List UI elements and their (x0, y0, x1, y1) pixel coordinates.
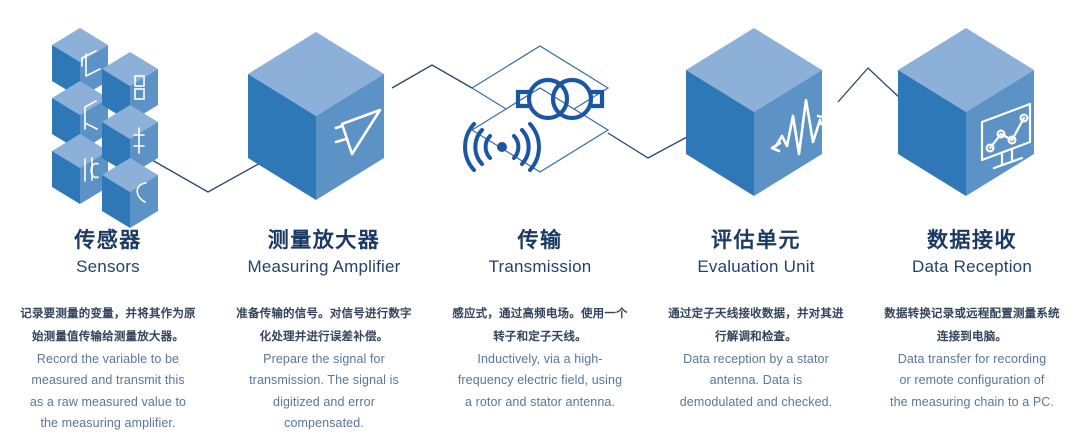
stage-column-evaluation-unit: 评估单元 Evaluation Unit 通过定子天线接收数据，并对其进 行解调… (648, 228, 864, 413)
desc-en-line: Inductively, via a high- (442, 349, 638, 371)
stage-title-cn-measuring-amplifier: 测量放大器 (226, 228, 422, 254)
desc-en-line: the measuring amplifier. (10, 413, 206, 435)
stage-title-en-transmission: Transmission (442, 256, 638, 278)
desc-cn-line: 始测量值传输给测量放大器。 (10, 327, 206, 348)
desc-en-line: or remote configuration of (874, 370, 1070, 392)
desc-en-line: digitized and error (226, 392, 422, 414)
connector-amplifier-to-transmission (392, 65, 472, 88)
stage-column-data-reception: 数据接收 Data Reception 数据转换记录或远程配置测量系统 连接到电… (864, 228, 1080, 413)
desc-en-line: Data reception by a stator (658, 349, 854, 371)
desc-en-line: antenna. Data is (658, 370, 854, 392)
stage-title-cn-data-reception: 数据接收 (874, 228, 1070, 254)
desc-cn-line: 数据转换记录或远程配置测量系统 (874, 304, 1070, 325)
desc-cn-line: 通过定子天线接收数据，并对其进 (658, 304, 854, 325)
amplifier-cube-icon (248, 32, 384, 200)
stage-description-measuring-amplifier: 准备传输的信号。对信号进行数字 化处理并进行误差补偿。 Prepare the … (226, 304, 422, 435)
transmission-icon (465, 46, 608, 172)
stage-description-evaluation-unit: 通过定子天线接收数据，并对其进 行解调和检查。 Data reception b… (658, 304, 854, 413)
reception-monitor-cube-icon (898, 28, 1034, 196)
evaluation-waveform-cube-icon (686, 28, 826, 196)
desc-en-line: Prepare the signal for (226, 349, 422, 371)
stage-column-sensors: 传感器 Sensors 记录要测量的变量，并将其作为原 始测量值传输给测量放大器… (0, 228, 216, 435)
desc-en-line: a rotor and stator antenna. (442, 392, 638, 414)
stage-labels-row: 传感器 Sensors 记录要测量的变量，并将其作为原 始测量值传输给测量放大器… (0, 228, 1080, 441)
desc-cn-line: 感应式，通过高频电场。使用一个 (442, 304, 638, 325)
desc-en-line: transmission. The signal is (226, 370, 422, 392)
stage-column-transmission: 传输 Transmission 感应式，通过高频电场。使用一个 转子和定子天线。… (432, 228, 648, 413)
desc-en-line: measured and transmit this (10, 370, 206, 392)
process-flow-infographic: 传感器 Sensors 记录要测量的变量，并将其作为原 始测量值传输给测量放大器… (0, 0, 1080, 441)
desc-en-line: frequency electric field, using (442, 370, 638, 392)
desc-cn-line: 化处理并进行误差补偿。 (226, 327, 422, 348)
desc-cn-line: 准备传输的信号。对信号进行数字 (226, 304, 422, 325)
desc-en-line: compensated. (226, 413, 422, 435)
stage-column-measuring-amplifier: 测量放大器 Measuring Amplifier 准备传输的信号。对信号进行数… (216, 228, 432, 435)
stage-description-sensors: 记录要测量的变量，并将其作为原 始测量值传输给测量放大器。 Record the… (10, 304, 206, 435)
stage-title-cn-evaluation-unit: 评估单元 (658, 228, 854, 254)
desc-cn-line: 连接到电脑。 (874, 327, 1070, 348)
desc-en-line: as a raw measured value to (10, 392, 206, 414)
connector-evaluation-to-reception (838, 68, 902, 102)
stage-title-en-evaluation-unit: Evaluation Unit (658, 256, 854, 278)
stage-title-en-measuring-amplifier: Measuring Amplifier (226, 256, 422, 278)
stage-description-transmission: 感应式，通过高频电场。使用一个 转子和定子天线。 Inductively, vi… (442, 304, 638, 413)
stage-title-en-sensors: Sensors (10, 256, 206, 278)
desc-cn-line: 记录要测量的变量，并将其作为原 (10, 304, 206, 325)
sensors-cube-stack-icon (52, 28, 158, 228)
desc-cn-line: 转子和定子天线。 (442, 327, 638, 348)
desc-en-line: the measuring chain to a PC. (874, 392, 1070, 414)
diagram-graphics-layer (0, 0, 1080, 230)
desc-en-line: Data transfer for recording (874, 349, 1070, 371)
stage-description-data-reception: 数据转换记录或远程配置测量系统 连接到电脑。 Data transfer for… (874, 304, 1070, 413)
stage-title-cn-transmission: 传输 (442, 228, 638, 254)
desc-en-line: Record the variable to be (10, 349, 206, 371)
stage-title-cn-sensors: 传感器 (10, 228, 206, 254)
stage-title-en-data-reception: Data Reception (874, 256, 1070, 278)
desc-en-line: demodulated and checked. (658, 392, 854, 414)
desc-cn-line: 行解调和检查。 (658, 327, 854, 348)
